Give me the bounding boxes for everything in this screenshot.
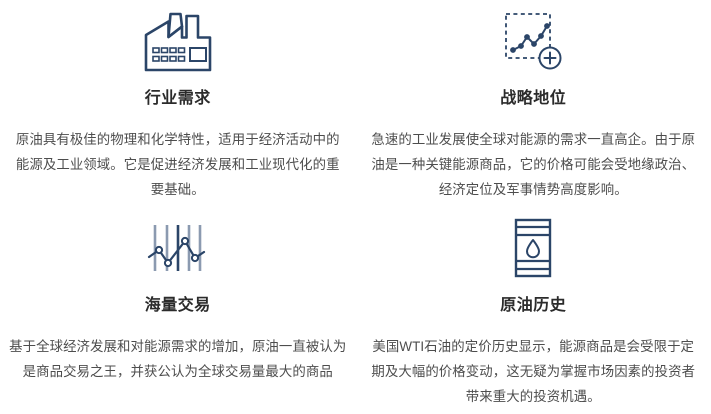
card-body: 原油具有极佳的物理和化学特性，适用于经济活动中的能源及工业领域。它是促进经济发展…	[12, 127, 344, 202]
feature-card-strategic-position: 战略地位 急速的工业发展使全球对能源的需求一直高企。由于原油是一种关键能源商品，…	[356, 0, 711, 207]
card-title: 原油历史	[500, 298, 566, 314]
card-title: 战略地位	[500, 91, 566, 107]
feature-card-trading-volume: 海量交易 基于全球经济发展和对能源需求的增加，原油一直被认为是商品交易之王，并获…	[0, 207, 356, 414]
oil-barrel-icon	[509, 211, 557, 285]
card-title: 行业需求	[145, 91, 211, 107]
line-chart-add-icon	[498, 4, 568, 78]
card-title: 海量交易	[145, 298, 211, 314]
factory-icon	[142, 4, 214, 78]
card-body: 基于全球经济发展和对能源需求的增加，原油一直被认为是商品交易之王，并获公认为全球…	[8, 334, 348, 384]
feature-card-crude-oil-history: 原油历史 美国WTI石油的定价历史显示，能源商品是会受限于定期及大幅的价格变动，…	[356, 207, 711, 414]
card-body: 急速的工业发展使全球对能源的需求一直高企。由于原油是一种关键能源商品，它的价格可…	[366, 127, 700, 202]
card-body: 美国WTI石油的定价历史显示，能源商品是会受限于定期及大幅的价格变动，这无疑为掌…	[368, 334, 698, 409]
feature-grid: 行业需求 原油具有极佳的物理和化学特性，适用于经济活动中的能源及工业领域。它是促…	[0, 0, 711, 414]
feature-card-industry-demand: 行业需求 原油具有极佳的物理和化学特性，适用于经济活动中的能源及工业领域。它是促…	[0, 0, 356, 207]
volume-chart-icon	[147, 211, 209, 285]
